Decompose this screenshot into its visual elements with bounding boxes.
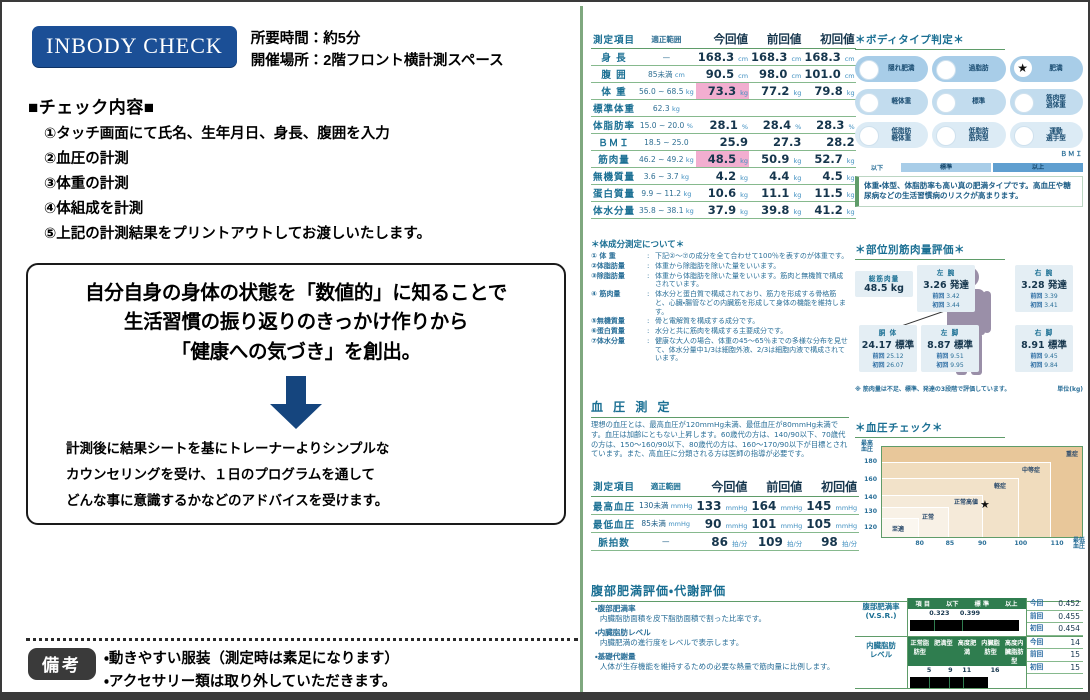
column-header: 初回値 xyxy=(804,476,859,497)
bp-chart-x-axis: 80 85 90 100 110 xyxy=(881,540,1083,552)
fat-level-tick-row: 5 9 11 16 xyxy=(908,666,1026,677)
table-cell: 41.2 kg xyxy=(802,202,855,219)
table-cell: 98.0 cm xyxy=(749,66,802,83)
muscle-total-label: 総筋肉量 xyxy=(857,273,911,283)
measurement-table: 測定項目 適正範囲 今回値 前回値 初回値 身 長—168.3 cm168.3 … xyxy=(591,30,856,219)
body-type-label: 標準 xyxy=(959,98,999,105)
table-cell: 73.3 kg xyxy=(696,83,749,100)
bp-current-marker: ★ xyxy=(980,499,990,510)
bp-chart-title: ＊血圧チェック＊ xyxy=(855,420,1083,438)
table-row: 腹部肥満率(V.S.R.) 項 目 以下 標 準 以上 0.323 0.399 xyxy=(855,598,1083,637)
abdominal-notes: ・腹部肥満率 内臓脂肪面積を皮下脂肪面積で割った比率です。・内臓脂肪レベル 内臓… xyxy=(595,604,845,676)
vsr-table: 腹部肥満率(V.S.R.) 項 目 以下 標 準 以上 0.323 0.399 xyxy=(855,598,1083,689)
value-row: 今回14 xyxy=(1027,637,1083,650)
y-tick: 140 xyxy=(864,494,877,501)
part-value: 8.87 標準 xyxy=(923,337,977,351)
muscle-card-right-arm: 右 腕 3.28 発達 前回 3.39 初回 3.41 xyxy=(1015,265,1073,312)
table-cell: 体脂肪率 xyxy=(591,117,637,134)
unselected-dot-icon xyxy=(859,93,879,113)
body-type-label: 運動選手型 xyxy=(1036,128,1076,143)
result-sheet: 測定項目 適正範囲 今回値 前回値 初回値 身 長—168.3 cm168.3 … xyxy=(583,6,1088,696)
body-type-label: 筋肉型過体重 xyxy=(1036,95,1076,110)
bp-zone-label: 重症 xyxy=(1066,449,1078,458)
part-value: 8.91 標準 xyxy=(1017,337,1071,351)
fat-level-row-label: 内臓脂肪レベル xyxy=(855,637,908,688)
table-cell: 168.3 cm xyxy=(802,49,855,66)
table-cell: 90 mmHg xyxy=(694,515,749,533)
list-item: ・内臓脂肪レベル 内臓肥満の進行度をレベルで表示します。 xyxy=(595,628,845,648)
table-header-row: 測定項目 適正範囲 今回値 前回値 初回値 xyxy=(591,476,859,497)
table-cell: 37.9 kg xyxy=(696,202,749,219)
list-item: ⑤上記の計測結果をプリントアウトしてお渡しいたします。 xyxy=(44,222,574,247)
table-row: 最低血圧85未満 mmHg90 mmHg101 mmHg105 mmHg xyxy=(591,515,859,533)
table-row: 腹 囲85未満 cm90.5 cm98.0 cm101.0 cm xyxy=(591,66,856,83)
body-type-cell: 低脂肪筋肉型 xyxy=(932,122,1005,148)
part-label: 右 腕 xyxy=(1017,267,1071,277)
x-tick: 80 xyxy=(915,540,924,547)
column-header: 前回値 xyxy=(749,30,802,49)
muscle-card-total: 総筋肉量 48.5 kg xyxy=(855,271,913,297)
bp-section-title: 血 圧 測 定 xyxy=(591,398,849,418)
list-item: ⑥蛋白質量:水分と共に筋肉を構成する主要成分です。 xyxy=(591,327,849,336)
remarks-line1: ・動きやすい服装（測定時は素足になります） xyxy=(104,648,399,671)
table-cell: 28.4 % xyxy=(749,117,802,134)
column-header: 前回値 xyxy=(749,476,804,497)
table-cell: 39.8 kg xyxy=(749,202,802,219)
table-cell: 77.2 kg xyxy=(749,83,802,100)
composition-note-title: ＊体成分測定について＊ xyxy=(591,238,849,250)
x-tick: 90 xyxy=(978,540,987,547)
list-item: ④ 筋肉量:体水分と蛋白質で構成されており、筋力を形成する骨格筋と、心臓・腸管な… xyxy=(591,290,849,316)
scale-header-cell: 内臓脂肪型 xyxy=(979,637,1003,666)
table-cell: 15.0 ~ 20.0 % xyxy=(637,117,696,134)
tick-label: 5 xyxy=(927,666,931,674)
table-cell: 25.9 xyxy=(696,134,749,151)
unselected-dot-icon xyxy=(936,60,956,80)
scale-header-cell: 標 準 xyxy=(967,598,997,609)
value-row: 初回15 xyxy=(1027,662,1083,675)
muscle-panel: ＊部位別筋肉量評価＊ 総筋肉量 48.5 kg xyxy=(855,242,1083,393)
y-tick: 180 xyxy=(864,458,877,465)
dotted-divider xyxy=(26,638,578,641)
tick-label: 16 xyxy=(991,666,1000,674)
table-cell: 98 拍/分 xyxy=(804,533,859,551)
value-row: 前回15 xyxy=(1027,649,1083,662)
result-sheet-panel: 測定項目 適正範囲 今回値 前回値 初回値 身 長—168.3 cm168.3 … xyxy=(580,6,1088,696)
table-cell: 101 mmHg xyxy=(749,515,804,533)
unselected-dot-icon xyxy=(1014,93,1034,113)
muscle-footnote-row: ※ 筋肉量は不足、標準、発達の3段階で評価しています。 単位(kg) xyxy=(855,384,1083,393)
bp-zone-label: 正常高値 xyxy=(954,497,978,506)
part-label: 胴 体 xyxy=(861,327,915,337)
list-item: ④体組成を計測 xyxy=(44,197,574,222)
table-cell: 体水分量 xyxy=(591,202,637,219)
selected-star-icon: ★ xyxy=(1014,59,1032,77)
list-item: ⑤無機質量:骨と電解質を構成する成分です。 xyxy=(591,317,849,326)
fat-level-scale-header: 正常脂肪型 肥満型 高度肥満 内臓脂肪型 高度内臓脂肪型 xyxy=(908,637,1026,666)
table-cell: 体 重 xyxy=(591,83,637,100)
table-cell: 27.3 xyxy=(749,134,802,151)
muscle-panel-title: ＊部位別筋肉量評価＊ xyxy=(855,242,1083,260)
table-cell: 脈拍数 xyxy=(591,533,637,551)
message-sub-line1: 計測後に結果シートを基にトレーナーよりシンプルな xyxy=(66,436,552,462)
remarks-line2: ・アクセサリー類は取り外していただきます。 xyxy=(104,671,399,694)
scale-header-cell: 以上 xyxy=(997,598,1027,609)
bp-chart-y-axis: 180 160 140 130 120 xyxy=(855,442,879,538)
composition-note: ＊体成分測定について＊ ① 体 重:下記②～⑦の成分を全て合わせて100％を表す… xyxy=(591,238,849,364)
scale-header-cell: 正常脂肪型 xyxy=(908,637,932,666)
table-row: 脈拍数—86 拍/分109 拍/分98 拍/分 xyxy=(591,533,859,551)
body-type-grid: 隠れ肥満過脂肪★肥満軽体重標準筋肉型過体重低脂肪軽体重低脂肪筋肉型運動選手型 xyxy=(855,56,1083,148)
body-type-panel: ＊ボディタイプ判定＊ 隠れ肥満過脂肪★肥満軽体重標準筋肉型過体重低脂肪軽体重低脂… xyxy=(855,32,1083,207)
left-panel: INBODY CHECK 所要時間：約5分 開催場所：2階フロント横計測スペース… xyxy=(18,12,574,688)
table-cell: 85未満 mmHg xyxy=(637,515,694,533)
table-cell: 4.5 kg xyxy=(802,168,855,185)
table-cell: 標準体重 xyxy=(591,100,637,117)
tick-label: 0.399 xyxy=(960,609,980,617)
body-type-cell: 隠れ肥満 xyxy=(855,56,928,82)
value-row: 初回0.454 xyxy=(1027,623,1083,636)
table-cell xyxy=(749,100,802,117)
unselected-dot-icon xyxy=(1014,126,1034,146)
body-type-cell: 運動選手型 xyxy=(1010,122,1083,148)
table-cell: 4.2 kg xyxy=(696,168,749,185)
vsr-tick-row: 0.323 0.399 xyxy=(908,609,1026,620)
bmi-axis-label: 以上 xyxy=(993,163,1083,172)
table-row: ＢＭＩ18.5 ~ 25.025.927.328.2 xyxy=(591,134,856,151)
list-item: ③体重の計測 xyxy=(44,172,574,197)
column-header: 今回値 xyxy=(696,30,749,49)
remarks-lines: ・動きやすい服装（測定時は素足になります） ・アクセサリー類は取り外していただき… xyxy=(104,648,399,695)
muscle-unit-note: 単位(kg) xyxy=(1057,384,1083,393)
table-cell: 50.9 kg xyxy=(749,151,802,168)
down-arrow-icon xyxy=(40,376,552,430)
part-first: 初回 9.84 xyxy=(1017,360,1071,369)
table-cell: — xyxy=(637,49,696,66)
measurement-table-body: 身 長—168.3 cm168.3 cm168.3 cm腹 囲85未満 cm90… xyxy=(591,49,856,219)
list-item: ⑦体水分量:健康な大人の場合、体重の45～65％までの多様な分布を見せて、体水分… xyxy=(591,337,849,363)
table-cell: 28.2 xyxy=(802,134,855,151)
message-lead-line1: 自分自身の身体の状態を「数値的」に知ることで xyxy=(40,279,552,309)
column-header: 測定項目 xyxy=(591,476,637,497)
remarks-badge: 備考 xyxy=(28,648,96,680)
table-cell: 4.4 kg xyxy=(749,168,802,185)
list-item: ③除脂肪量:体重から体脂肪を除いた量をいいます。筋肉と無機質で構成されています。 xyxy=(591,272,849,290)
table-cell: 105 mmHg xyxy=(804,515,859,533)
table-cell: 130未満 mmHg xyxy=(637,497,694,515)
table-cell: ＢＭＩ xyxy=(591,134,637,151)
table-cell: 168.3 cm xyxy=(696,49,749,66)
inbody-check-badge: INBODY CHECK xyxy=(32,26,237,67)
fat-level-values: 今回14 前回15 初回15 xyxy=(1026,637,1083,688)
table-cell xyxy=(802,100,855,117)
table-row: 体 重56.0 ~ 68.5 kg73.3 kg77.2 kg79.8 kg xyxy=(591,83,856,100)
blood-pressure-table: 測定項目 適正範囲 今回値 前回値 初回値 最高血圧130未満 mmHg133 … xyxy=(591,476,859,551)
table-cell: 168.3 cm xyxy=(749,49,802,66)
part-value: 3.26 発達 xyxy=(919,277,973,291)
part-first: 初回 3.44 xyxy=(919,300,973,309)
unselected-dot-icon xyxy=(859,60,879,80)
column-header: 適正範囲 xyxy=(637,30,696,49)
unselected-dot-icon xyxy=(936,93,956,113)
table-cell: 145 mmHg xyxy=(804,497,859,515)
body-type-cell: 標準 xyxy=(932,89,1005,115)
message-lead: 自分自身の身体の状態を「数値的」に知ることで 生活習慣の振り返りのきっかけ作りか… xyxy=(40,279,552,368)
blood-pressure-table-body: 最高血圧130未満 mmHg133 mmHg164 mmHg145 mmHg最低… xyxy=(591,497,859,551)
table-cell: 11.1 kg xyxy=(749,185,802,202)
body-type-cell: 筋肉型過体重 xyxy=(1010,89,1083,115)
part-first: 初回 9.95 xyxy=(923,360,977,369)
column-header: 適正範囲 xyxy=(637,476,694,497)
table-cell: 28.3 % xyxy=(802,117,855,134)
scale-header-cell: 高度肥満 xyxy=(955,637,979,666)
x-tick: 110 xyxy=(1051,540,1064,547)
message-lead-line2: 生活習慣の振り返りのきっかけ作りから xyxy=(40,308,552,338)
table-cell: 56.0 ~ 68.5 kg xyxy=(637,83,696,100)
column-header: 初回値 xyxy=(802,30,855,49)
bp-zone-label: 中等症 xyxy=(1022,465,1040,474)
table-cell: 18.5 ~ 25.0 xyxy=(637,134,696,151)
fat-level-scale: 正常脂肪型 肥満型 高度肥満 内臓脂肪型 高度内臓脂肪型 5 9 11 16 xyxy=(908,637,1026,688)
duration-text: 所要時間：約5分 xyxy=(251,28,504,50)
body-type-cell: 低脂肪軽体重 xyxy=(855,122,928,148)
part-prev: 前回 3.42 xyxy=(919,291,973,300)
header-block: INBODY CHECK 所要時間：約5分 開催場所：2階フロント横計測スペース xyxy=(18,12,574,73)
x-tick: 85 xyxy=(946,540,955,547)
bp-chart-x-title: 最低血圧 xyxy=(1073,538,1085,551)
body-type-label: 低脂肪筋肉型 xyxy=(959,128,999,143)
table-cell: 86 拍/分 xyxy=(694,533,749,551)
table-row: 標準体重62.3 kg xyxy=(591,100,856,117)
part-value: 3.28 発達 xyxy=(1017,277,1071,291)
message-sub: 計測後に結果シートを基にトレーナーよりシンプルな カウンセリングを受け、１日のプ… xyxy=(40,436,552,515)
muscle-card-left-arm: 左 腕 3.26 発達 前回 3.42 初回 3.44 xyxy=(917,265,975,312)
vsr-row-label: 腹部肥満率(V.S.R.) xyxy=(855,598,908,636)
place-text: 開催場所：2階フロント横計測スペース xyxy=(251,50,504,72)
composition-note-items: ① 体 重:下記②～⑦の成分を全て合わせて100％を表すのが体重です。②体脂肪量… xyxy=(591,252,849,363)
body-type-label: 隠れ肥満 xyxy=(881,65,921,72)
vsr-scale-header: 項 目 以下 標 準 以上 xyxy=(908,598,1026,609)
muscle-card-right-leg: 右 脚 8.91 標準 前回 9.45 初回 9.84 xyxy=(1015,325,1073,372)
list-item: ②血圧の計測 xyxy=(44,147,574,172)
table-cell: 35.8 ~ 38.1 kg xyxy=(637,202,696,219)
part-first: 初回 26.07 xyxy=(861,360,915,369)
bp-chart-panel: ＊血圧チェック＊ 最高血圧 180 160 140 130 120 xyxy=(855,420,1083,554)
table-cell: 52.7 kg xyxy=(802,151,855,168)
scale-header-cell: 肥満型 xyxy=(932,637,956,666)
body-type-label: 軽体重 xyxy=(881,98,921,105)
body-type-label: 肥満 xyxy=(1036,65,1076,72)
tick-label: 11 xyxy=(962,666,971,674)
bp-chart-plot: 至適 正常 正常高値 軽症 中等症 重症 ★ xyxy=(881,446,1083,538)
table-cell: 無機質量 xyxy=(591,168,637,185)
list-item: ①タッチ画面にて氏名、生年月日、身長、腹囲を入力 xyxy=(44,122,574,147)
value-row: 今回0.452 xyxy=(1027,598,1083,611)
table-row: 最高血圧130未満 mmHg133 mmHg164 mmHg145 mmHg xyxy=(591,497,859,515)
part-prev: 前回 9.45 xyxy=(1017,351,1071,360)
y-tick: 130 xyxy=(864,508,877,515)
table-cell: 79.8 kg xyxy=(802,83,855,100)
muscle-footnote: ※ 筋肉量は不足、標準、発達の3段階で評価しています。 xyxy=(855,384,1010,393)
bmi-axis-tag: ＢＭＩ xyxy=(855,148,1083,158)
table-cell: 109 拍/分 xyxy=(749,533,804,551)
bmi-axis-label: 標準 xyxy=(901,163,991,172)
fat-level-bar xyxy=(910,677,988,688)
table-row: 体水分量35.8 ~ 38.1 kg37.9 kg39.8 kg41.2 kg xyxy=(591,202,856,219)
column-header: 測定項目 xyxy=(591,30,637,49)
table-row: 身 長—168.3 cm168.3 cm168.3 cm xyxy=(591,49,856,66)
part-prev: 前回 25.12 xyxy=(861,351,915,360)
table-row: 筋肉量46.2 ~ 49.2 kg48.5 kg50.9 kg52.7 kg xyxy=(591,151,856,168)
bp-zone-label: 正常 xyxy=(922,512,934,521)
muscle-card-left-leg: 左 脚 8.87 標準 前回 9.51 初回 9.95 xyxy=(921,325,979,372)
body-type-comment: 体重・体型、体脂肪率も高い真の肥満タイプです。高血圧や糖尿病などの生活習慣病のリ… xyxy=(855,176,1083,207)
table-cell xyxy=(696,100,749,117)
table-cell: 46.2 ~ 49.2 kg xyxy=(637,151,696,168)
table-cell: 最低血圧 xyxy=(591,515,637,533)
bp-zone-label: 至適 xyxy=(892,524,904,533)
table-cell: 62.3 kg xyxy=(637,100,696,117)
bp-chart-plot-area: 最高血圧 180 160 140 130 120 至適 xyxy=(855,442,1083,554)
body-type-label: 低脂肪軽体重 xyxy=(881,128,921,143)
scale-header-cell: 以下 xyxy=(938,598,968,609)
body-type-cell: 過脂肪 xyxy=(932,56,1005,82)
column-header: 今回値 xyxy=(694,476,749,497)
table-cell: 身 長 xyxy=(591,49,637,66)
table-cell: 85未満 cm xyxy=(637,66,696,83)
vsr-bar xyxy=(910,620,1019,631)
muscle-card-torso: 胴 体 24.17 標準 前回 25.12 初回 26.07 xyxy=(859,325,917,372)
table-cell: 11.5 kg xyxy=(802,185,855,202)
bp-zone-label: 軽症 xyxy=(994,481,1006,490)
message-lead-line3: 「健康への気づき」を創出。 xyxy=(40,338,552,368)
header-meta: 所要時間：約5分 開催場所：2階フロント横計測スペース xyxy=(251,26,504,73)
table-cell: 133 mmHg xyxy=(694,497,749,515)
body-type-cell: ★肥満 xyxy=(1010,56,1083,82)
message-sub-line3: どんな事に意識するかなどのアドバイスを受けます。 xyxy=(66,488,552,514)
part-prev: 前回 9.51 xyxy=(923,351,977,360)
list-item: ②体脂肪量:体重から除脂肪を除いた量をいいます。 xyxy=(591,262,849,271)
part-label: 右 脚 xyxy=(1017,327,1071,337)
message-sub-line2: カウンセリングを受け、１日のプログラムを通して xyxy=(66,462,552,488)
table-cell: 101.0 cm xyxy=(802,66,855,83)
x-tick: 100 xyxy=(1014,540,1027,547)
y-tick: 160 xyxy=(864,476,877,483)
table-header-row: 測定項目 適正範囲 今回値 前回値 初回値 xyxy=(591,30,856,49)
body-type-title: ＊ボディタイプ判定＊ xyxy=(855,32,1083,50)
table-row: 蛋白質量9.9 ~ 11.2 kg10.6 kg11.1 kg11.5 kg xyxy=(591,185,856,202)
bmi-axis-bar: 以下 標準 以上 xyxy=(855,163,1083,172)
scale-header-cell: 項 目 xyxy=(908,598,938,609)
scale-header-cell: 高度内臓脂肪型 xyxy=(1002,637,1026,666)
table-cell: 90.5 cm xyxy=(696,66,749,83)
table-row: 体脂肪率15.0 ~ 20.0 %28.1 %28.4 %28.3 % xyxy=(591,117,856,134)
table-cell: 10.6 kg xyxy=(696,185,749,202)
body-type-label: 過脂肪 xyxy=(959,65,999,72)
bp-paragraph: 理想の血圧とは、最高血圧が120mmHg未満、最低血圧が80mmHg未満です。血… xyxy=(591,420,849,459)
list-item: ① 体 重:下記②～⑦の成分を全て合わせて100％を表すのが体重です。 xyxy=(591,252,849,261)
remarks-block: 備考 ・動きやすい服装（測定時は素足になります） ・アクセサリー類は取り外してい… xyxy=(28,648,399,695)
muscle-total-value: 48.5 kg xyxy=(857,283,911,294)
table-cell: 腹 囲 xyxy=(591,66,637,83)
part-value: 24.17 標準 xyxy=(861,337,915,351)
table-cell: 164 mmHg xyxy=(749,497,804,515)
table-cell: — xyxy=(637,533,694,551)
poster-page: INBODY CHECK 所要時間：約5分 開催場所：2階フロント横計測スペース… xyxy=(0,0,1090,700)
vsr-values: 今回0.452 前回0.455 初回0.454 xyxy=(1026,598,1083,636)
y-tick: 120 xyxy=(864,524,877,531)
bmi-axis-label: 以下 xyxy=(855,163,899,172)
unselected-dot-icon xyxy=(936,126,956,146)
muscle-diagram: 総筋肉量 48.5 kg 左 腕 3.26 発達 前回 3.42 初回 3.44… xyxy=(855,265,1083,383)
part-prev: 前回 3.39 xyxy=(1017,291,1071,300)
table-cell: 最高血圧 xyxy=(591,497,637,515)
check-section-title: ■チェック内容■ xyxy=(28,93,574,118)
part-label: 左 脚 xyxy=(923,327,977,337)
table-cell: 9.9 ~ 11.2 kg xyxy=(637,185,696,202)
vsr-scale: 項 目 以下 標 準 以上 0.323 0.399 xyxy=(908,598,1026,636)
table-cell: 48.5 kg xyxy=(696,151,749,168)
table-cell: 3.6 ~ 3.7 kg xyxy=(637,168,696,185)
table-row: 内臓脂肪レベル 正常脂肪型 肥満型 高度肥満 内臓脂肪型 高度内臓脂肪型 5 9 xyxy=(855,637,1083,689)
unselected-dot-icon xyxy=(859,126,879,146)
part-first: 初回 3.41 xyxy=(1017,300,1071,309)
table-cell: 筋肉量 xyxy=(591,151,637,168)
value-row: 前回0.455 xyxy=(1027,611,1083,624)
part-label: 左 腕 xyxy=(919,267,973,277)
body-type-cell: 軽体重 xyxy=(855,89,928,115)
list-item: ・腹部肥満率 内臓脂肪面積を皮下脂肪面積で割った比率です。 xyxy=(595,604,845,624)
check-steps-list: ①タッチ画面にて氏名、生年月日、身長、腹囲を入力 ②血圧の計測 ③体重の計測 ④… xyxy=(18,122,574,247)
tick-label: 9 xyxy=(948,666,952,674)
table-cell: 28.1 % xyxy=(696,117,749,134)
table-cell: 蛋白質量 xyxy=(591,185,637,202)
tick-label: 0.323 xyxy=(929,609,949,617)
message-box: 自分自身の身体の状態を「数値的」に知ることで 生活習慣の振り返りのきっかけ作りか… xyxy=(26,263,566,525)
list-item: ・基礎代謝量 人体が生存機能を維持するための必要な熱量で筋肉量に比例します。 xyxy=(595,652,845,672)
table-row: 無機質量3.6 ~ 3.7 kg4.2 kg4.4 kg4.5 kg xyxy=(591,168,856,185)
